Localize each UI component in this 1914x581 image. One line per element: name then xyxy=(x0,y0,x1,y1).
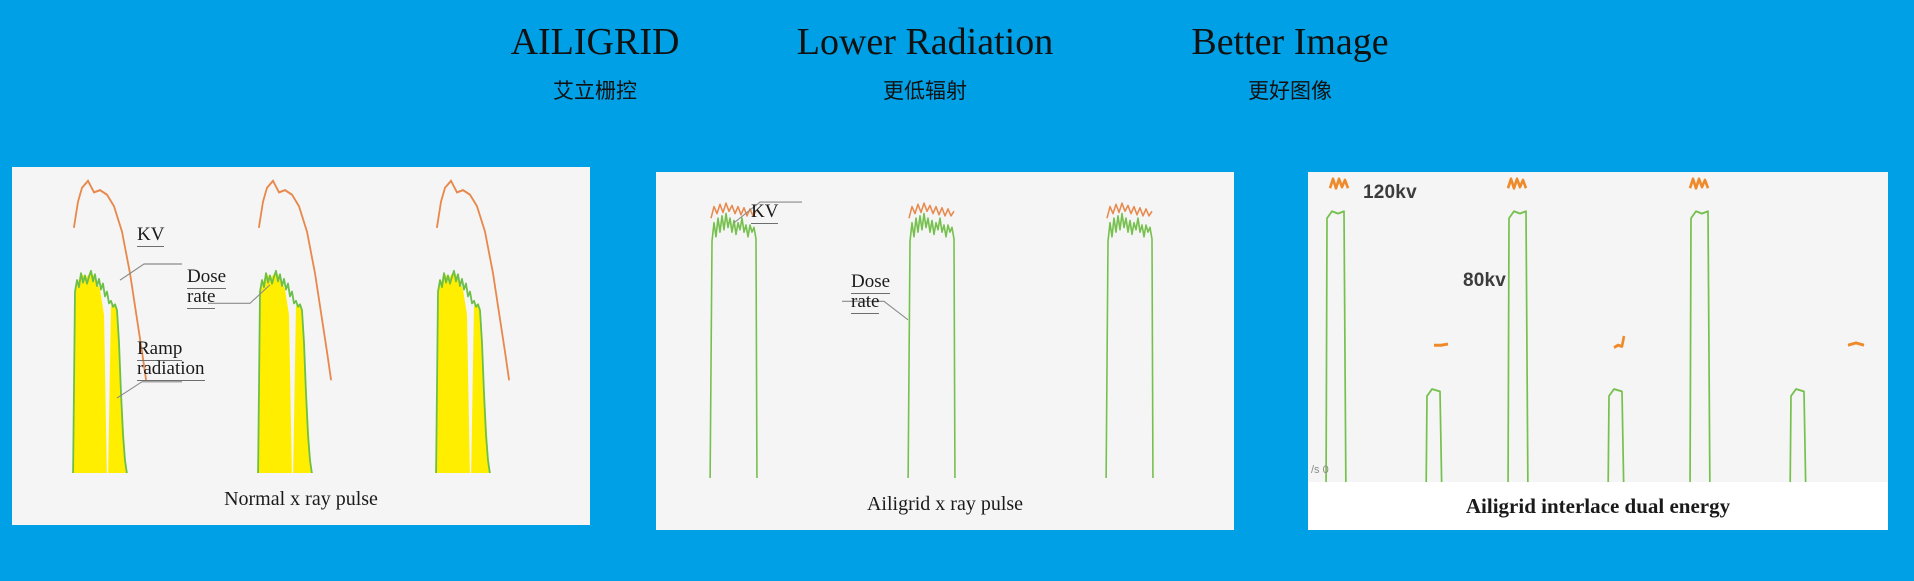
kv-marker-120kv-1 xyxy=(1330,179,1348,188)
slogan-better-image-zh: 更好图像 xyxy=(1140,75,1440,105)
annotation-120kv: 120kv xyxy=(1363,182,1417,204)
slogan-ailigrid-zh: 艾立栅控 xyxy=(480,75,710,105)
dose-pulse-120kv-2 xyxy=(1508,211,1608,502)
slogan-lower-radiation-en: Lower Radiation xyxy=(765,22,1085,64)
dose-pulse-120kv-3 xyxy=(1690,211,1790,502)
annotation-kv-text: KV xyxy=(751,201,778,224)
panel-caption-normal: Normal x ray pulse xyxy=(12,473,590,525)
chart-svg-ailigrid xyxy=(656,172,1234,530)
header-banner: AILIGRID 艾立栅控 Lower Radiation 更低辐射 Bette… xyxy=(0,0,1914,160)
dose-rate-curve-2 xyxy=(908,214,1044,493)
pulse-group-3 xyxy=(1106,203,1230,493)
annotation-dose-rate-text: Dose rate xyxy=(187,266,226,309)
kv-marker-80kv-3 xyxy=(1848,343,1864,345)
annotation-80kv: 80kv xyxy=(1463,270,1506,292)
kv-marker-80kv-1 xyxy=(1434,344,1448,345)
annotation-kv-text: KV xyxy=(137,224,164,247)
kv-marker-120kv-3 xyxy=(1690,179,1708,188)
pulse-group-2 xyxy=(908,203,1044,493)
chart-normal-xray-pulse xyxy=(12,167,590,525)
chart-panel-interlace-dual-energy: 120kv 80kv /s 0 Ailigrid interlace dual … xyxy=(1308,172,1888,530)
kv-marker-120kv-2 xyxy=(1508,179,1526,188)
ramp-radiation-fill-3 xyxy=(435,271,470,481)
ramp-radiation-fill-1 xyxy=(72,271,107,481)
kv-curve-3 xyxy=(1107,203,1152,218)
annotation-ramp-radiation: Ramp radiation xyxy=(137,319,205,379)
slogan-better-image: Better Image 更好图像 xyxy=(1140,22,1440,105)
annotation-dose-rate: Dose rate xyxy=(851,252,890,312)
panel-caption-dual-energy: Ailigrid interlace dual energy xyxy=(1308,482,1888,530)
chart-svg-normal xyxy=(12,167,590,525)
kv-marker-80kv-2 xyxy=(1614,336,1624,348)
panel-caption-ailigrid: Ailigrid x ray pulse xyxy=(656,478,1234,530)
annotation-kv: KV xyxy=(137,205,164,245)
chart-interlace-dual-energy xyxy=(1308,172,1888,530)
dose-rate-curve-3 xyxy=(1106,214,1230,493)
slogan-lower-radiation: Lower Radiation 更低辐射 xyxy=(765,22,1085,105)
chart-svg-dual-energy xyxy=(1308,172,1888,530)
dose-pulse-120kv-1 xyxy=(1316,211,1426,502)
annotation-kv: KV xyxy=(751,182,778,222)
axis-zero-label: /s 0 xyxy=(1311,464,1329,476)
chart-panel-ailigrid-xray-pulse: KV Dose rate Ailigrid x ray pulse xyxy=(656,172,1234,530)
slogan-ailigrid: AILIGRID 艾立栅控 xyxy=(480,22,710,105)
dose-rate-curve-1 xyxy=(660,214,846,493)
annotation-ramp-radiation-text: Ramp radiation xyxy=(137,338,205,381)
kv-curve-2 xyxy=(909,203,954,218)
annotation-dose-rate-text: Dose rate xyxy=(851,271,890,314)
pulse-group-1 xyxy=(660,203,846,493)
pulse-group-2 xyxy=(257,181,357,481)
chart-ailigrid-xray-pulse xyxy=(656,172,1234,530)
slogan-better-image-en: Better Image xyxy=(1140,22,1440,64)
ramp-radiation-leader-line-1 xyxy=(117,382,182,398)
slogan-lower-radiation-zh: 更低辐射 xyxy=(765,75,1085,105)
ramp-radiation-fill-2 xyxy=(257,271,292,481)
annotation-dose-rate: Dose rate xyxy=(187,247,226,307)
chart-panel-normal-xray-pulse: KV Dose rate Ramp radiation Normal x ray… xyxy=(12,167,590,525)
slogan-ailigrid-en: AILIGRID xyxy=(480,22,710,64)
pulse-group-3 xyxy=(435,181,535,481)
slogan-row: AILIGRID 艾立栅控 Lower Radiation 更低辐射 Bette… xyxy=(480,22,1440,105)
